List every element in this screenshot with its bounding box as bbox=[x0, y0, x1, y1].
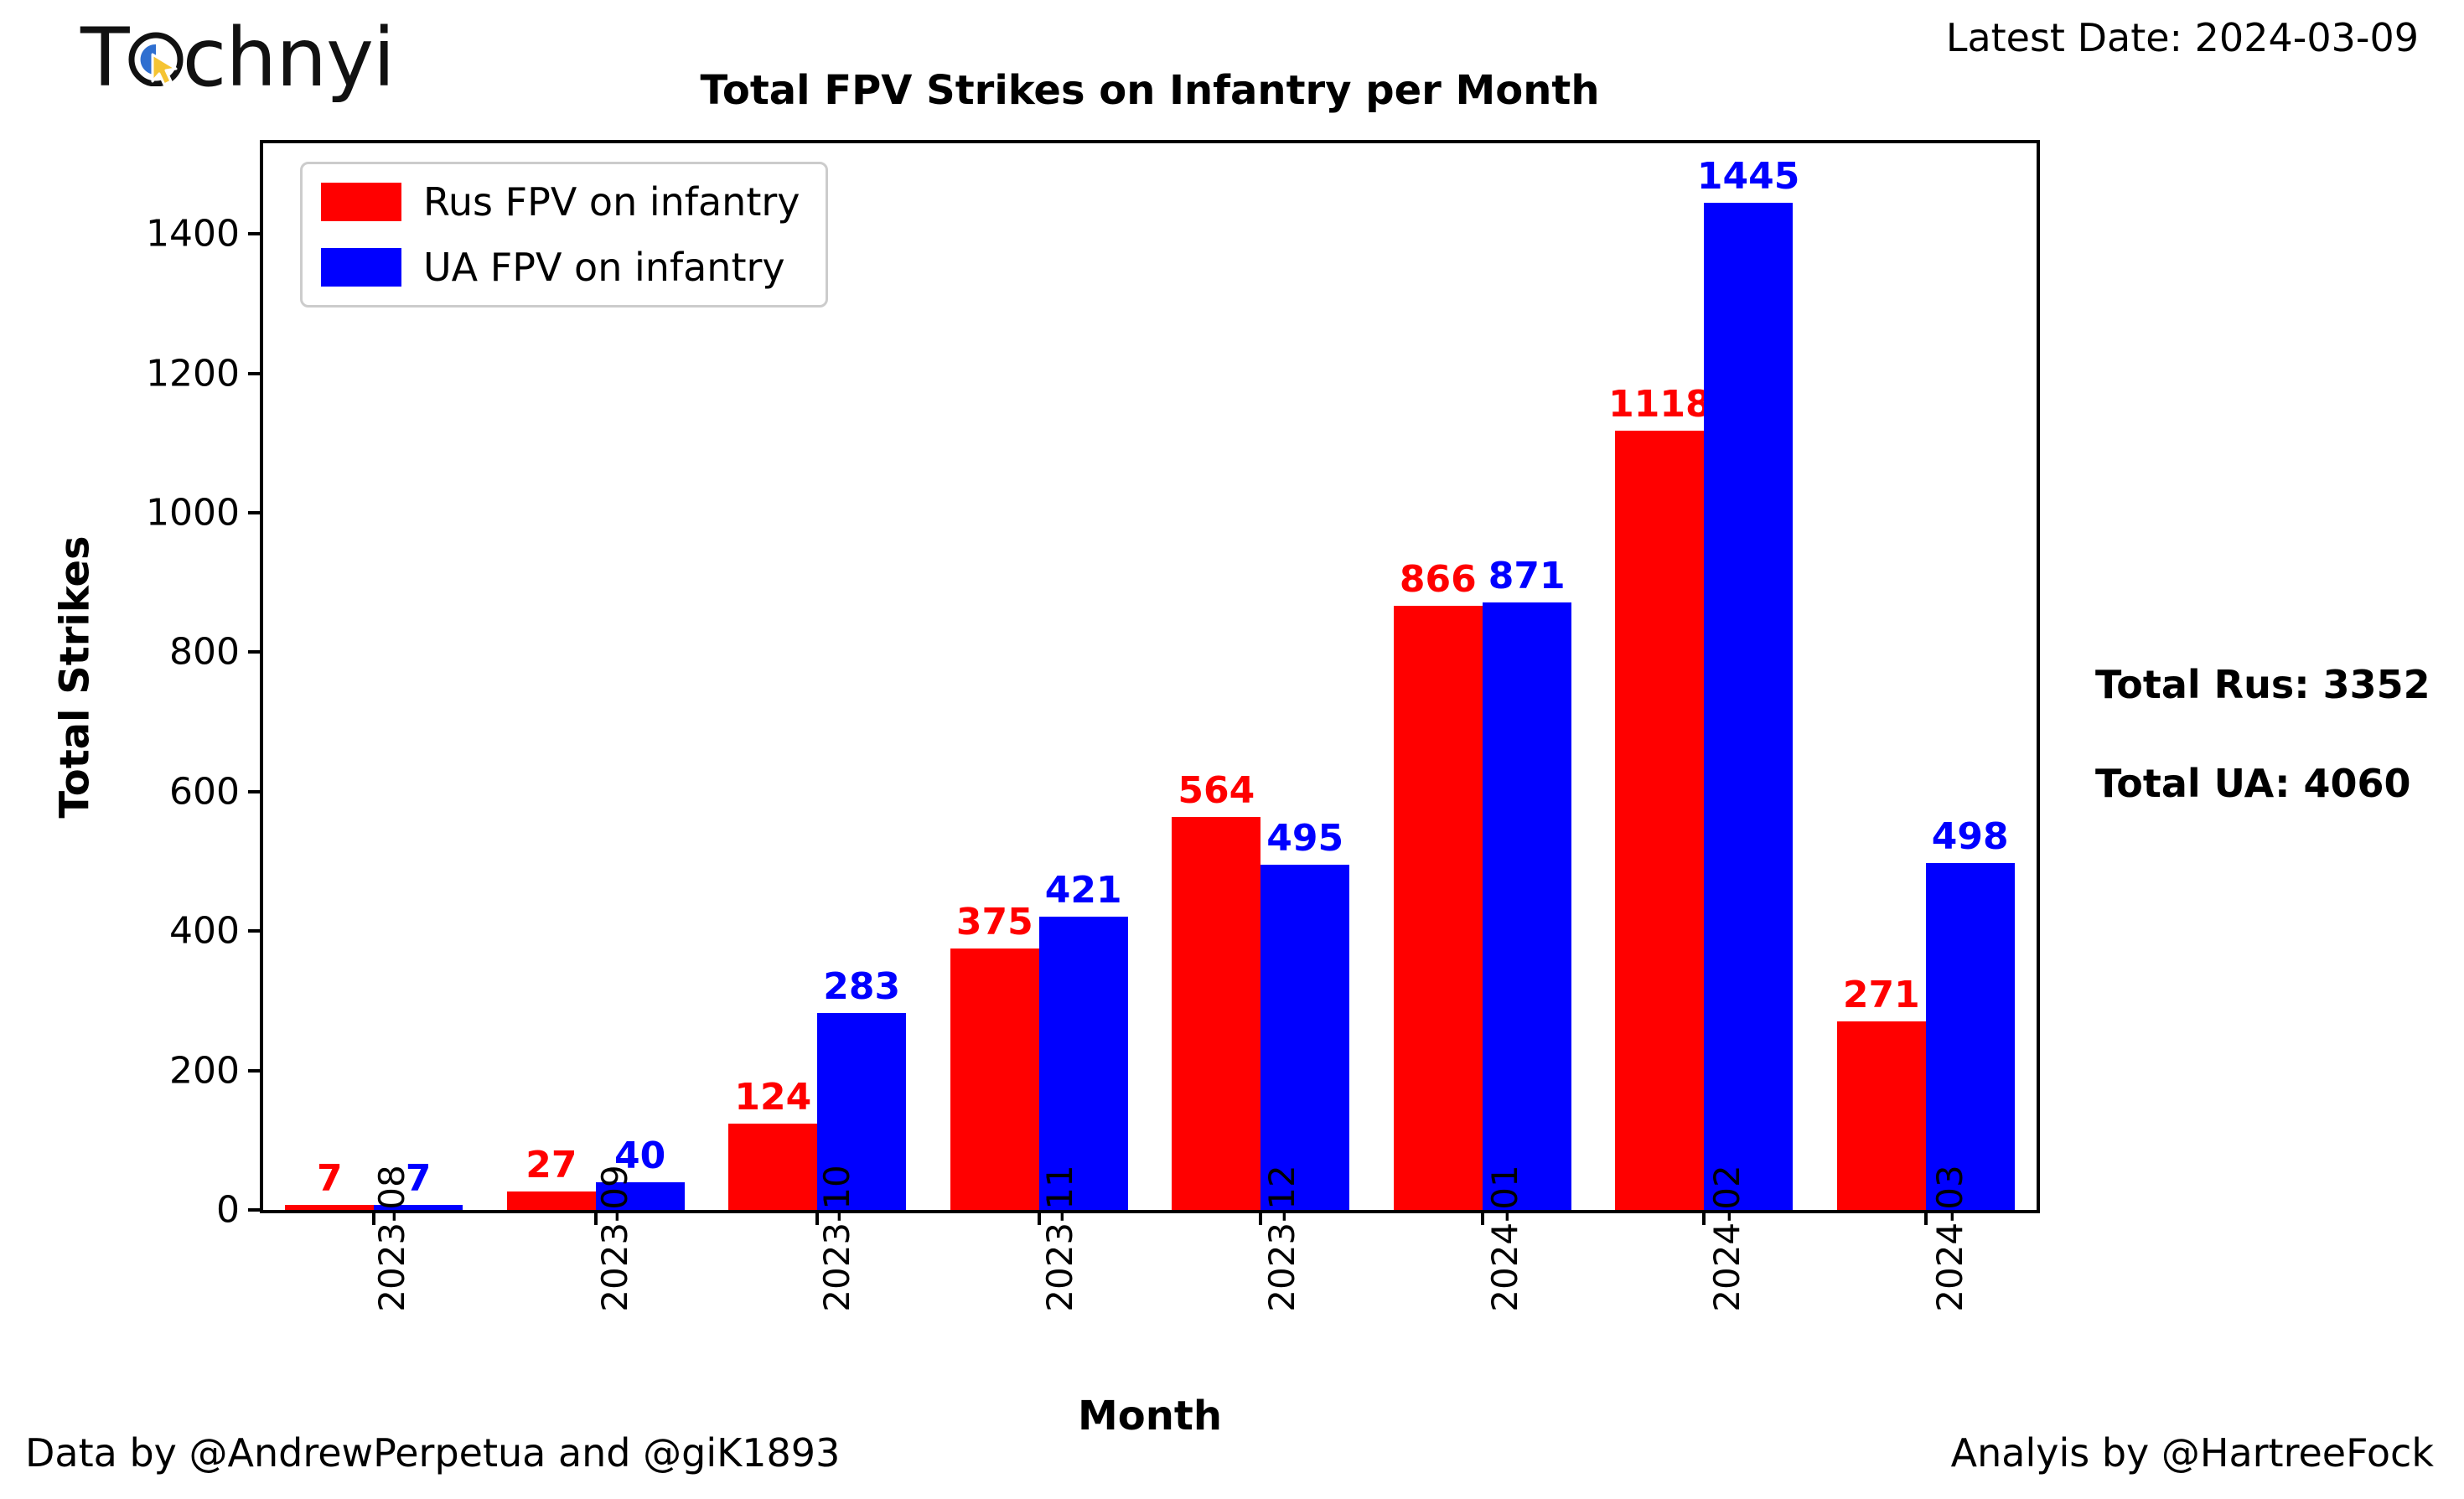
x-axis-tick-label-text: 2024-01 bbox=[1483, 1165, 1524, 1312]
x-axis-tick-label-text: 2024-02 bbox=[1706, 1165, 1747, 1312]
y-axis-tick-mark bbox=[248, 650, 263, 654]
legend-item-ua[interactable]: UA FPV on infantry bbox=[321, 245, 800, 290]
y-axis-tick-mark bbox=[248, 511, 263, 514]
x-axis-tick-label-text: 2023-11 bbox=[1038, 1165, 1079, 1312]
bar-rus[interactable]: 271 bbox=[1837, 1021, 1926, 1210]
x-axis-tick-label-text: 2023-08 bbox=[371, 1165, 412, 1312]
bar-ua[interactable]: 495 bbox=[1260, 865, 1349, 1210]
chart-legend: Rus FPV on infantry UA FPV on infantry bbox=[300, 162, 828, 308]
chart-title: Total FPV Strikes on Infantry per Month bbox=[260, 67, 2040, 114]
bar-rus[interactable]: 866 bbox=[1394, 606, 1483, 1210]
y-axis-tick-mark bbox=[248, 372, 263, 375]
legend-item-rus[interactable]: Rus FPV on infantry bbox=[321, 179, 800, 225]
footer-data-credit: Data by @AndrewPerpetua and @giK1893 bbox=[25, 1430, 840, 1476]
y-axis-tick-mark bbox=[248, 1069, 263, 1073]
bar-value-label: 7 bbox=[317, 1157, 343, 1200]
x-axis-tick-label-text: 2023-09 bbox=[593, 1165, 634, 1312]
bar-value-label: 124 bbox=[734, 1076, 811, 1119]
total-rus-label: Total Rus: 3352 bbox=[2095, 662, 2430, 707]
legend-swatch-rus bbox=[321, 183, 401, 221]
bar-rus[interactable]: 375 bbox=[950, 949, 1039, 1210]
bar-rus[interactable]: 564 bbox=[1172, 817, 1260, 1210]
bar-value-label: 1445 bbox=[1697, 155, 1799, 198]
y-axis-tick-label: 1400 bbox=[146, 213, 263, 256]
plot-area: 0200400600800100012001400 77274012428337… bbox=[260, 140, 2040, 1213]
y-axis-tick-mark bbox=[248, 1208, 263, 1212]
bar-value-label: 271 bbox=[1843, 974, 1920, 1016]
y-axis-tick-mark bbox=[248, 790, 263, 793]
bar-value-label: 871 bbox=[1488, 555, 1566, 597]
x-axis-tick-label-text: 2023-12 bbox=[1261, 1165, 1302, 1312]
total-ua-label: Total UA: 4060 bbox=[2095, 761, 2430, 806]
footer-analysis-credit: Analyis by @HartreeFock bbox=[1951, 1430, 2434, 1476]
bar-value-label: 27 bbox=[525, 1144, 577, 1186]
bar-ua[interactable]: 871 bbox=[1483, 602, 1571, 1210]
bar-value-label: 1118 bbox=[1608, 383, 1711, 426]
y-axis-tick-mark bbox=[248, 232, 263, 235]
latest-date-label: Latest Date: 2024-03-09 bbox=[1946, 15, 2419, 60]
bar-value-label: 375 bbox=[956, 901, 1033, 943]
bar-rus[interactable]: 7 bbox=[285, 1205, 374, 1210]
bar-ua[interactable]: 498 bbox=[1926, 863, 2015, 1210]
bar-value-label: 421 bbox=[1045, 869, 1122, 912]
y-axis-tick-label: 1000 bbox=[146, 491, 263, 534]
bar-value-label: 498 bbox=[1932, 815, 2009, 858]
bar-value-label: 283 bbox=[823, 965, 900, 1008]
y-axis-label-text: Total Strikes bbox=[52, 535, 99, 818]
bar-rus[interactable]: 27 bbox=[507, 1191, 596, 1210]
x-axis-tick-label-text: 2024-03 bbox=[1928, 1165, 1970, 1312]
bar-value-label: 866 bbox=[1400, 558, 1477, 601]
bar-rus[interactable]: 1118 bbox=[1615, 431, 1704, 1210]
legend-swatch-ua bbox=[321, 248, 401, 287]
bar-rus[interactable]: 124 bbox=[728, 1124, 817, 1210]
bar-value-label: 564 bbox=[1178, 769, 1255, 812]
x-axis-tick-label-text: 2023-10 bbox=[816, 1165, 857, 1312]
legend-label-rus: Rus FPV on infantry bbox=[423, 179, 800, 225]
totals-panel: Total Rus: 3352 Total UA: 4060 bbox=[2095, 662, 2430, 806]
y-axis-tick-mark bbox=[248, 929, 263, 933]
legend-label-ua: UA FPV on infantry bbox=[423, 245, 785, 290]
plot-inner: 0200400600800100012001400 77274012428337… bbox=[263, 143, 2037, 1210]
bar-ua[interactable]: 1445 bbox=[1704, 203, 1793, 1210]
y-axis-tick-label: 1200 bbox=[146, 352, 263, 395]
logo-text-before: T bbox=[80, 18, 129, 98]
y-axis-label: Total Strikes bbox=[50, 140, 101, 1213]
x-axis-tick-mark bbox=[1702, 1210, 1706, 1225]
bar-value-label: 495 bbox=[1266, 817, 1343, 860]
cursor-click-icon bbox=[127, 29, 184, 86]
x-axis-tick-mark bbox=[1924, 1210, 1928, 1225]
